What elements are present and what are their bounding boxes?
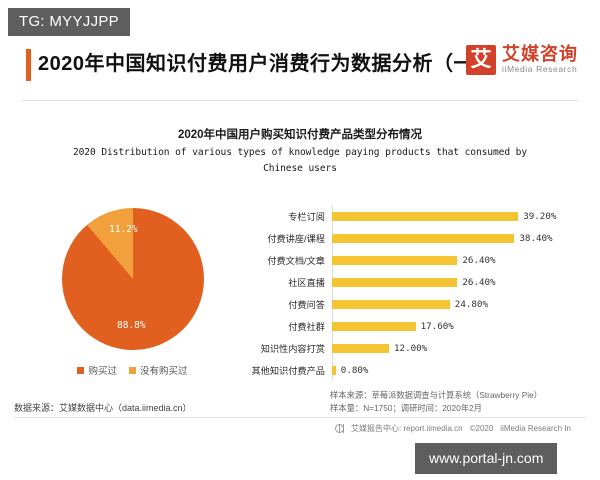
iimedia-logo: 艾 艾媒咨询 iiMedia Research bbox=[466, 45, 578, 75]
data-source-note: 数据来源：艾媒数据中心（data.iimedia.cn） bbox=[14, 401, 192, 414]
pie-legend: 购买过没有购买过 bbox=[35, 363, 230, 377]
bar-track: 0.80% bbox=[332, 359, 588, 381]
bar-rows: 专栏订阅39.20%付费讲座/课程38.40%付费文档/文章26.40%社区直播… bbox=[248, 205, 588, 381]
bar-row: 付费社群17.60% bbox=[248, 315, 588, 337]
bar-value-label: 17.60% bbox=[421, 321, 454, 332]
copyright-text: ©2020 bbox=[470, 424, 494, 433]
bar-row: 付费讲座/课程38.40% bbox=[248, 227, 588, 249]
bar-category-label: 付费讲座/课程 bbox=[248, 231, 332, 245]
bar-row: 社区直播26.40% bbox=[248, 271, 588, 293]
pie-slice-label-primary: 88.8% bbox=[117, 320, 146, 331]
bar-fill bbox=[332, 234, 514, 243]
bar-row: 其他知识付费产品0.80% bbox=[248, 359, 588, 381]
report-header: 2020年中国知识付费用户消费行为数据分析（一） 艾 艾媒咨询 iiMedia … bbox=[0, 46, 600, 92]
bar-fill bbox=[332, 344, 389, 353]
watermark: www.portal-jn.com bbox=[415, 443, 557, 474]
bar-value-label: 12.00% bbox=[394, 343, 427, 354]
bar-track: 26.40% bbox=[332, 271, 588, 293]
globe-icon bbox=[335, 424, 344, 433]
pie-legend-swatch bbox=[129, 367, 136, 374]
pie-legend-label: 购买过 bbox=[88, 363, 117, 377]
logo-name-cn: 艾媒咨询 bbox=[502, 45, 578, 64]
pie-legend-swatch bbox=[77, 367, 84, 374]
report-center-link[interactable]: 艾媒报告中心: report.iimedia.cn bbox=[351, 423, 463, 434]
bar-track: 12.00% bbox=[332, 337, 588, 359]
sample-notes: 样本来源：草莓派数据调查与计算系统（Strawberry Pie） 样本量：N=… bbox=[330, 389, 542, 415]
bar-value-label: 0.80% bbox=[341, 365, 369, 376]
bar-fill bbox=[332, 256, 457, 265]
logo-name-en: iiMedia Research bbox=[502, 64, 578, 75]
bar-fill bbox=[332, 278, 457, 287]
chart-title-cn: 2020年中国用户购买知识付费产品类型分布情况 bbox=[0, 126, 600, 142]
bar-fill bbox=[332, 212, 518, 221]
header-divider bbox=[22, 100, 578, 101]
bar-fill bbox=[332, 300, 450, 309]
title-accent-bar bbox=[26, 49, 31, 81]
bar-row: 付费文档/文章26.40% bbox=[248, 249, 588, 271]
footer-divider bbox=[14, 417, 586, 418]
bar-category-label: 社区直播 bbox=[248, 275, 332, 289]
pie-slice-label-secondary: 11.2% bbox=[109, 224, 138, 235]
bar-row: 知识性内容打赏12.00% bbox=[248, 337, 588, 359]
bar-fill bbox=[332, 366, 336, 375]
logo-mark-icon: 艾 bbox=[466, 45, 496, 75]
bar-fill bbox=[332, 322, 416, 331]
pie-chart: 11.2% 88.8% 购买过没有购买过 bbox=[35, 200, 230, 390]
bar-category-label: 付费社群 bbox=[248, 319, 332, 333]
bar-category-label: 其他知识付费产品 bbox=[248, 363, 332, 377]
bar-row: 专栏订阅39.20% bbox=[248, 205, 588, 227]
brand-text: iiMedia Research In bbox=[500, 424, 571, 433]
page-title: 2020年中国知识付费用户消费行为数据分析（一） bbox=[38, 47, 495, 76]
bar-value-label: 39.20% bbox=[523, 211, 556, 222]
sample-source-note: 样本来源：草莓派数据调查与计算系统（Strawberry Pie） bbox=[330, 389, 542, 402]
pie-legend-label: 没有购买过 bbox=[140, 363, 188, 377]
sample-size-note: 样本量：N=1750；调研时间：2020年2月 bbox=[330, 402, 542, 415]
logo-text: 艾媒咨询 iiMedia Research bbox=[502, 45, 578, 75]
bar-category-label: 专栏订阅 bbox=[248, 209, 332, 223]
bar-chart: 专栏订阅39.20%付费讲座/课程38.40%付费文档/文章26.40%社区直播… bbox=[248, 205, 588, 385]
pie-legend-item: 购买过 bbox=[77, 363, 117, 377]
bar-value-label: 24.80% bbox=[455, 299, 488, 310]
bar-value-label: 38.40% bbox=[519, 233, 552, 244]
bar-track: 38.40% bbox=[332, 227, 588, 249]
bar-value-label: 26.40% bbox=[462, 255, 495, 266]
bar-value-label: 26.40% bbox=[462, 277, 495, 288]
tg-tag: TG: MYYJJPP bbox=[8, 8, 130, 36]
bar-category-label: 知识性内容打赏 bbox=[248, 341, 332, 355]
bar-track: 26.40% bbox=[332, 249, 588, 271]
report-page: TG: MYYJJPP 2020年中国知识付费用户消费行为数据分析（一） 艾 艾… bbox=[0, 0, 600, 480]
bar-category-label: 付费文档/文章 bbox=[248, 253, 332, 267]
bar-category-label: 付费问答 bbox=[248, 297, 332, 311]
pie-legend-item: 没有购买过 bbox=[129, 363, 188, 377]
bar-track: 39.20% bbox=[332, 205, 588, 227]
chart-title-en: 2020 Distribution of various types of kn… bbox=[70, 145, 530, 177]
bar-track: 24.80% bbox=[332, 293, 588, 315]
bar-row: 付费问答24.80% bbox=[248, 293, 588, 315]
footer-bar: 艾媒报告中心: report.iimedia.cn ©2020 iiMedia … bbox=[335, 423, 571, 434]
bar-track: 17.60% bbox=[332, 315, 588, 337]
